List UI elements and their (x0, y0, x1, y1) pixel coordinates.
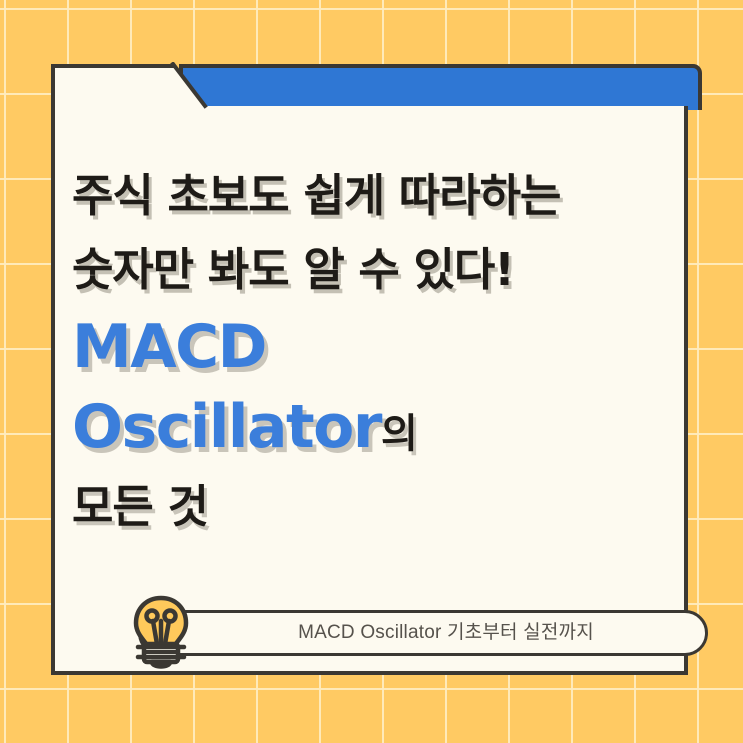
folder-card: 주식 초보도 쉽게 따라하는 숫자만 봐도 알 수 있다! MACD Oscil… (51, 64, 702, 678)
badge-label: MACD Oscillator 기초부터 실전까지 (211, 610, 681, 656)
headline-line-4-suffix: 의 (381, 411, 417, 457)
headline-block: 주식 초보도 쉽게 따라하는 숫자만 봐도 알 수 있다! MACD Oscil… (72, 159, 672, 540)
badge-row: MACD Oscillator 기초부터 실전까지 (119, 596, 679, 668)
headline-line-3: MACD (72, 307, 672, 387)
headline-line-4: Oscillator의 (72, 387, 672, 474)
headline-line-5: 모든 것 (72, 474, 672, 540)
folder-tab (179, 64, 702, 110)
poster-canvas: 주식 초보도 쉽게 따라하는 숫자만 봐도 알 수 있다! MACD Oscil… (0, 0, 743, 743)
headline-line-2: 숫자만 봐도 알 수 있다! (72, 233, 672, 307)
lightbulb-icon (119, 590, 203, 674)
headline-line-1: 주식 초보도 쉽게 따라하는 (72, 159, 672, 233)
headline-line-4-main: Oscillator (72, 392, 381, 462)
